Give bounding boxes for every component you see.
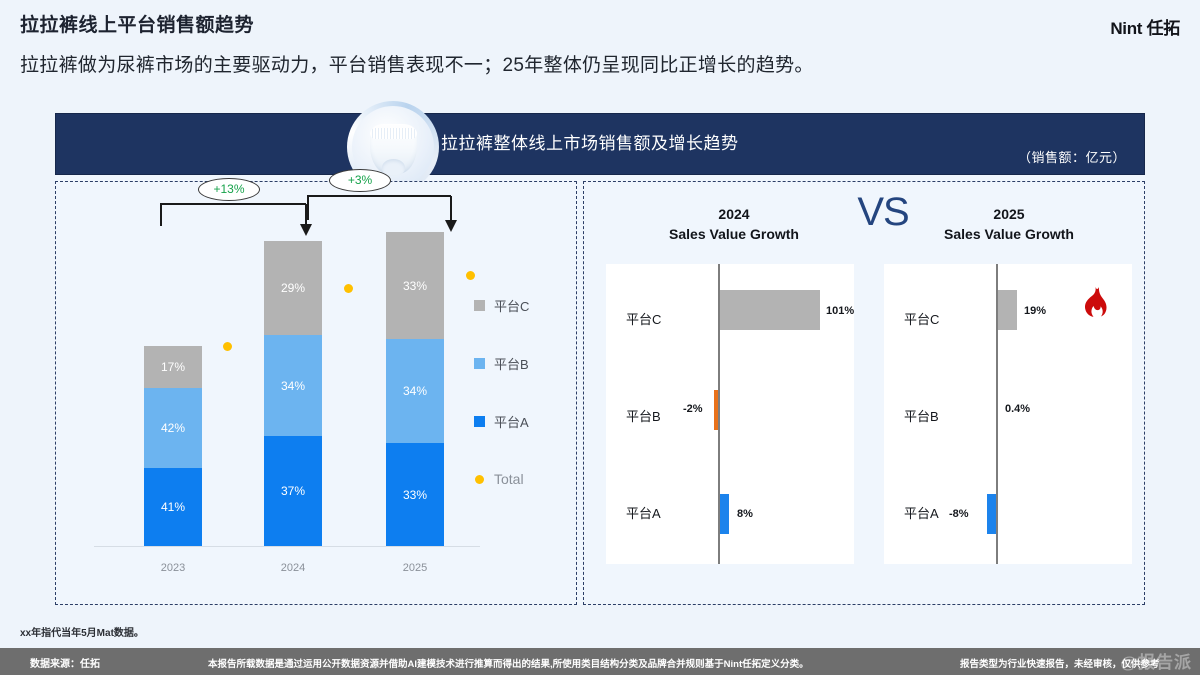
- x-tick-2025: 2025: [386, 562, 444, 574]
- stacked-bar-panel: +13% +3% 17% 42% 41% 2023: [55, 181, 577, 605]
- legend-swatch-platform-a: [474, 416, 485, 427]
- segment-2023-platform-a: 41%: [144, 468, 202, 546]
- comparison-year-2025: 2025: [884, 204, 1134, 224]
- page-title: 拉拉裤线上平台销售额趋势: [20, 10, 254, 37]
- growth-label-2024-2025: +3%: [329, 169, 391, 192]
- growth-bar-2025-platform-a: [987, 494, 996, 534]
- growth-label-2023-2024: +13%: [198, 178, 260, 201]
- flame-icon: [1081, 287, 1107, 321]
- bar-2023: 17% 42% 41%: [144, 346, 202, 546]
- legend-item-total[interactable]: Total: [474, 450, 529, 508]
- legend-item-platform-b[interactable]: 平台B: [474, 334, 529, 392]
- growth-bar-2024-platform-c: [720, 290, 820, 330]
- segment-2024-platform-b: 34%: [264, 335, 322, 436]
- banner-unit-label: （销售额：亿元）: [1018, 147, 1126, 166]
- legend-label-platform-b: 平台B: [494, 354, 529, 373]
- growth-value-2025-platform-a: -8%: [949, 508, 969, 520]
- comparison-subtitle-2025: Sales Value Growth: [884, 224, 1134, 244]
- comparison-subtitle-2024: Sales Value Growth: [604, 224, 864, 244]
- growth-comparison-panel: 2024 Sales Value Growth VS 2025 Sales Va…: [583, 181, 1145, 605]
- segment-2025-platform-c: 33%: [386, 232, 444, 339]
- x-axis-line: [94, 546, 480, 547]
- growth-bar-2024-platform-b: [714, 390, 718, 430]
- chart-legend: 平台C 平台B 平台A Total: [474, 276, 529, 508]
- comparison-heading-2024: 2024 Sales Value Growth: [604, 204, 864, 244]
- card-banner: 拉拉裤整体线上市场销售额及增长趋势 （销售额：亿元）: [55, 113, 1145, 175]
- growth-value-2025-platform-b: 0.4%: [1005, 403, 1030, 415]
- page-subtitle: 拉拉裤做为尿裤市场的主要驱动力，平台销售表现不一；25年整体仍呈现同比正增长的趋…: [20, 50, 814, 77]
- segment-2025-platform-a: 33%: [386, 443, 444, 546]
- legend-label-total: Total: [494, 471, 524, 487]
- segment-2023-platform-c: 17%: [144, 346, 202, 388]
- row-label-2024-platform-a: 平台A: [626, 503, 661, 522]
- growth-value-2025-platform-c: 19%: [1024, 305, 1046, 317]
- legend-swatch-platform-b: [474, 358, 485, 369]
- footer-disclaimer: 本报告所载数据是通过运用公开数据资源并借助AI建模技术进行推算而得出的结果,所使…: [208, 656, 809, 670]
- stacked-bar-chart: +13% +3% 17% 42% 41% 2023: [56, 182, 576, 604]
- row-label-2025-platform-b: 平台B: [904, 406, 939, 425]
- legend-item-platform-c[interactable]: 平台C: [474, 276, 529, 334]
- legend-label-platform-c: 平台C: [494, 296, 529, 315]
- segment-2024-platform-c: 29%: [264, 241, 322, 335]
- legend-item-platform-a[interactable]: 平台A: [474, 392, 529, 450]
- row-label-2025-platform-c: 平台C: [904, 309, 939, 328]
- growth-value-2024-platform-c: 101%: [826, 305, 854, 317]
- x-tick-2024: 2024: [264, 562, 322, 574]
- watermark: @报告派: [1120, 648, 1192, 673]
- growth-value-2024-platform-a: 8%: [737, 508, 753, 520]
- comparison-year-2024: 2024: [604, 204, 864, 224]
- footnote: xx年指代当年5月Mat数据。: [20, 624, 144, 639]
- total-marker-2023: [223, 342, 232, 351]
- growth-bar-2024-platform-a: [720, 494, 729, 534]
- row-label-2024-platform-b: 平台B: [626, 406, 661, 425]
- legend-swatch-platform-c: [474, 300, 485, 311]
- bar-2024: 29% 34% 37%: [264, 241, 322, 546]
- row-label-2025-platform-a: 平台A: [904, 503, 939, 522]
- segment-2024-platform-a: 37%: [264, 436, 322, 546]
- footer-source: 数据来源：任拓: [30, 655, 100, 670]
- total-marker-2024: [344, 284, 353, 293]
- row-label-2024-platform-c: 平台C: [626, 309, 661, 328]
- slide-root: 拉拉裤线上平台销售额趋势 拉拉裤做为尿裤市场的主要驱动力，平台销售表现不一；25…: [0, 0, 1200, 675]
- legend-swatch-total: [475, 475, 484, 484]
- chart-card: 拉拉裤整体线上市场销售额及增长趋势 （销售额：亿元） +13%: [55, 113, 1145, 605]
- growth-chart-2024: 平台C 101% 平台B -2% 平台A 8%: [606, 264, 854, 564]
- segment-2025-platform-b: 34%: [386, 339, 444, 443]
- growth-bar-2025-platform-c: [998, 290, 1017, 330]
- growth-value-2024-platform-b: -2%: [683, 403, 703, 415]
- legend-label-platform-a: 平台A: [494, 412, 529, 431]
- banner-title: 拉拉裤整体线上市场销售额及增长趋势: [441, 129, 739, 154]
- x-tick-2023: 2023: [144, 562, 202, 574]
- footer-bar: 数据来源：任拓 本报告所载数据是通过运用公开数据资源并借助AI建模技术进行推算而…: [0, 648, 1200, 675]
- brand-logo: Nint 任拓: [1110, 14, 1180, 39]
- comparison-heading-2025: 2025 Sales Value Growth: [884, 204, 1134, 244]
- bar-2025: 33% 34% 33%: [386, 232, 444, 546]
- segment-2023-platform-b: 42%: [144, 388, 202, 468]
